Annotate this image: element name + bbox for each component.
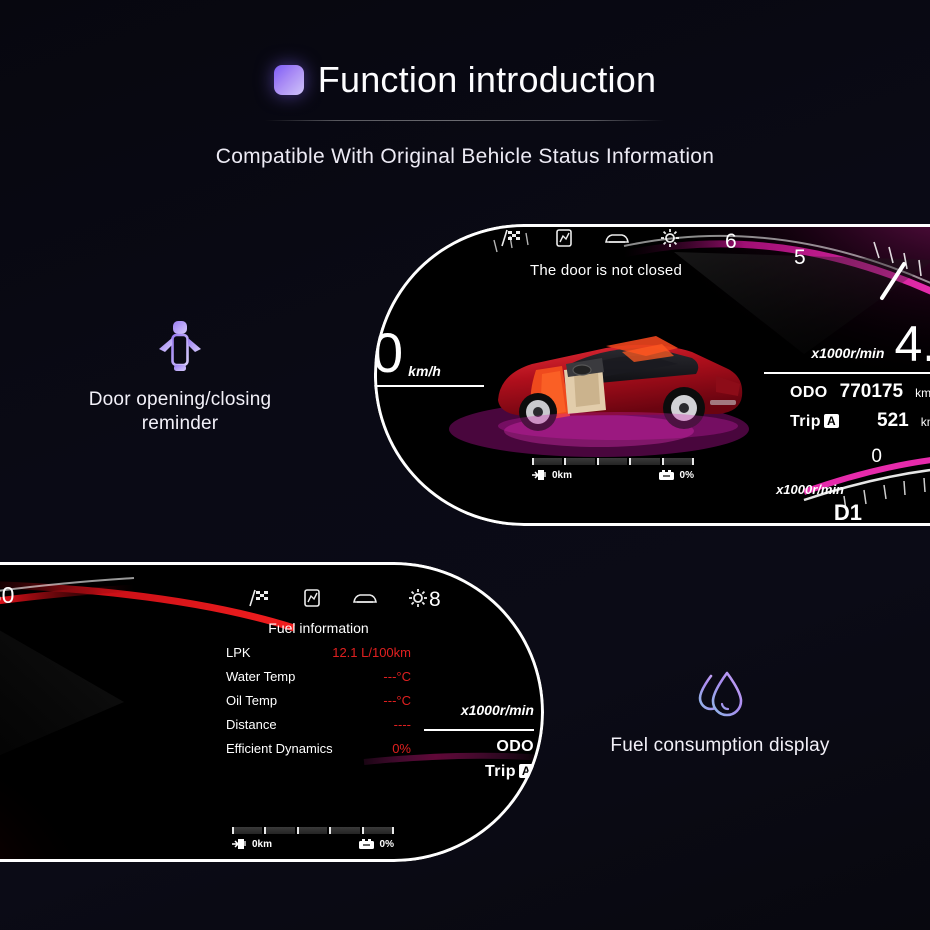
cluster-bottom-status-bar: 0km 0% — [232, 827, 394, 850]
range-value: 0km — [552, 470, 572, 481]
cluster-bottom-rpm-unit: x1000r/min — [461, 702, 534, 724]
trip-label: TripA — [485, 763, 534, 781]
gear-indicator: D1 — [834, 500, 862, 526]
cluster-top-odo-row: ODO 770175 km — [764, 381, 930, 403]
feature-door-reminder: Door opening/closing reminder — [58, 318, 302, 436]
water-drops-icon — [592, 668, 848, 720]
cluster-bottom-rpm: x1000r/min ODO TripA — [424, 702, 534, 781]
page-title: Function introduction — [318, 62, 656, 98]
page-subtitle: Compatible With Original Behicle Status … — [0, 145, 930, 169]
fuel-row: Efficient Dynamics 0% — [226, 741, 411, 756]
feature-door-label-line1: Door opening/closing — [89, 389, 272, 410]
range-segments — [532, 458, 694, 465]
cluster-top-icon-row[interactable] — [500, 228, 680, 253]
cluster-top-speed-rule — [374, 385, 484, 387]
odo-label: ODO — [496, 738, 534, 756]
cluster-top-rpm-rule — [764, 372, 930, 374]
range-readout: 0km — [532, 469, 572, 481]
fuel-information-panel: Fuel information LPK 12.1 L/100km Water … — [226, 620, 411, 765]
feature-fuel-label: Fuel consumption display — [592, 734, 848, 758]
seg — [629, 458, 659, 465]
fuel-chart-icon[interactable] — [302, 588, 322, 613]
fuel-row-value: ---°C — [383, 669, 411, 684]
trip-label: TripA — [790, 413, 839, 431]
fuel-row-key: Distance — [226, 717, 277, 732]
seg — [362, 827, 394, 834]
battery-icon — [658, 470, 676, 481]
battery-readout: 0% — [358, 839, 394, 850]
fuel-pump-icon — [232, 838, 248, 850]
fuel-row-value: ---°C — [383, 693, 411, 708]
cluster-top-next-rpm-zero: 0 — [871, 446, 882, 468]
trip-unit: km — [921, 415, 930, 429]
cluster-top-speed-value: 0 — [374, 326, 402, 379]
battery-readout: 0% — [658, 470, 694, 481]
fuel-row-key: LPK — [226, 645, 251, 660]
trip-badge: A — [824, 414, 839, 428]
cluster-top-next-rpm-unit: x1000r/min — [776, 482, 844, 497]
sport-flag-icon[interactable] — [248, 589, 272, 612]
fuel-row-key: Water Temp — [226, 669, 295, 684]
cluster-bottom-odo-row: ODO — [424, 738, 534, 756]
fuel-row: LPK 12.1 L/100km — [226, 645, 411, 660]
fuel-info-title: Fuel information — [226, 620, 411, 636]
car-icon[interactable] — [352, 590, 378, 611]
odo-label: ODO — [790, 384, 828, 402]
cluster-bottom-icon-row[interactable] — [248, 588, 428, 613]
gear-icon[interactable] — [408, 588, 428, 613]
cluster-bottom-trip-row: TripA — [424, 763, 534, 781]
trip-label-text: Trip — [485, 763, 516, 780]
trip-label-text: Trip — [790, 413, 821, 430]
sport-flag-icon[interactable] — [500, 229, 524, 252]
feature-fuel-consumption: Fuel consumption display — [592, 668, 848, 758]
fuel-row-value: ---- — [394, 717, 411, 732]
range-segments — [232, 827, 394, 834]
cluster-bottom-rpm-rule — [424, 729, 534, 731]
fuel-row-key: Oil Temp — [226, 693, 277, 708]
range-readout: 0km — [232, 838, 272, 850]
trip-badge: A — [519, 764, 534, 778]
cluster-top-speed-unit: km/h — [408, 363, 441, 379]
seg — [564, 458, 594, 465]
fuel-row: Oil Temp ---°C — [226, 693, 411, 708]
trip-value: 521 — [877, 410, 909, 432]
cluster-top-rpm: x1000r/min 4.2 ODO 770175 km TripA 521 k… — [764, 322, 930, 432]
seg — [264, 827, 294, 834]
cluster-top-trip-row: TripA 521 km — [764, 410, 930, 432]
seg — [329, 827, 359, 834]
instrument-cluster-bottom: 210 270 330 8 0 km/h — [0, 562, 544, 862]
cluster-top-rpm-unit: x1000r/min — [811, 345, 884, 367]
page-header: Function introduction Compatible With Or… — [0, 62, 930, 169]
fuel-chart-icon[interactable] — [554, 228, 574, 253]
title-divider — [265, 120, 665, 121]
car-open-doors-icon — [58, 318, 302, 374]
cluster-top-rpm-value: 4.2 — [894, 322, 930, 367]
battery-value: 0% — [380, 839, 394, 850]
odo-unit: km — [915, 386, 930, 400]
feature-door-label-line2: reminder — [142, 413, 219, 434]
fuel-row: Water Temp ---°C — [226, 669, 411, 684]
cluster-top-tick-5: 5 — [794, 246, 806, 270]
odo-value: 770175 — [840, 381, 903, 403]
seg — [297, 827, 327, 834]
title-badge-icon — [274, 65, 304, 95]
rpm-tick-8: 8 — [429, 588, 441, 612]
fuel-row-key: Efficient Dynamics — [226, 741, 333, 756]
battery-icon — [358, 839, 376, 850]
cluster-top-tick-6: 6 — [725, 230, 737, 254]
cluster-top-speed: 0 km/h — [374, 326, 484, 387]
fuel-pump-icon — [532, 469, 548, 481]
car-icon[interactable] — [604, 230, 630, 251]
title-row: Function introduction — [0, 62, 930, 98]
speed-tick-330: 330 — [0, 582, 14, 609]
vehicle-illustration — [478, 312, 758, 448]
range-value: 0km — [252, 839, 272, 850]
seg — [232, 827, 262, 834]
seg — [532, 458, 562, 465]
fuel-row: Distance ---- — [226, 717, 411, 732]
seg — [662, 458, 694, 465]
battery-value: 0% — [680, 470, 694, 481]
fuel-row-value: 0% — [392, 741, 411, 756]
gear-icon[interactable] — [660, 228, 680, 253]
page-root: Function introduction Compatible With Or… — [0, 0, 930, 930]
feature-door-label: Door opening/closing reminder — [58, 388, 302, 436]
fuel-row-value: 12.1 L/100km — [332, 645, 411, 660]
instrument-cluster-top: 6 5 The door is not closed 0 km/h — [374, 224, 930, 526]
cluster-top-status-bar: 0km 0% — [532, 458, 694, 481]
seg — [597, 458, 627, 465]
door-warning-text: The door is not closed — [530, 262, 682, 279]
